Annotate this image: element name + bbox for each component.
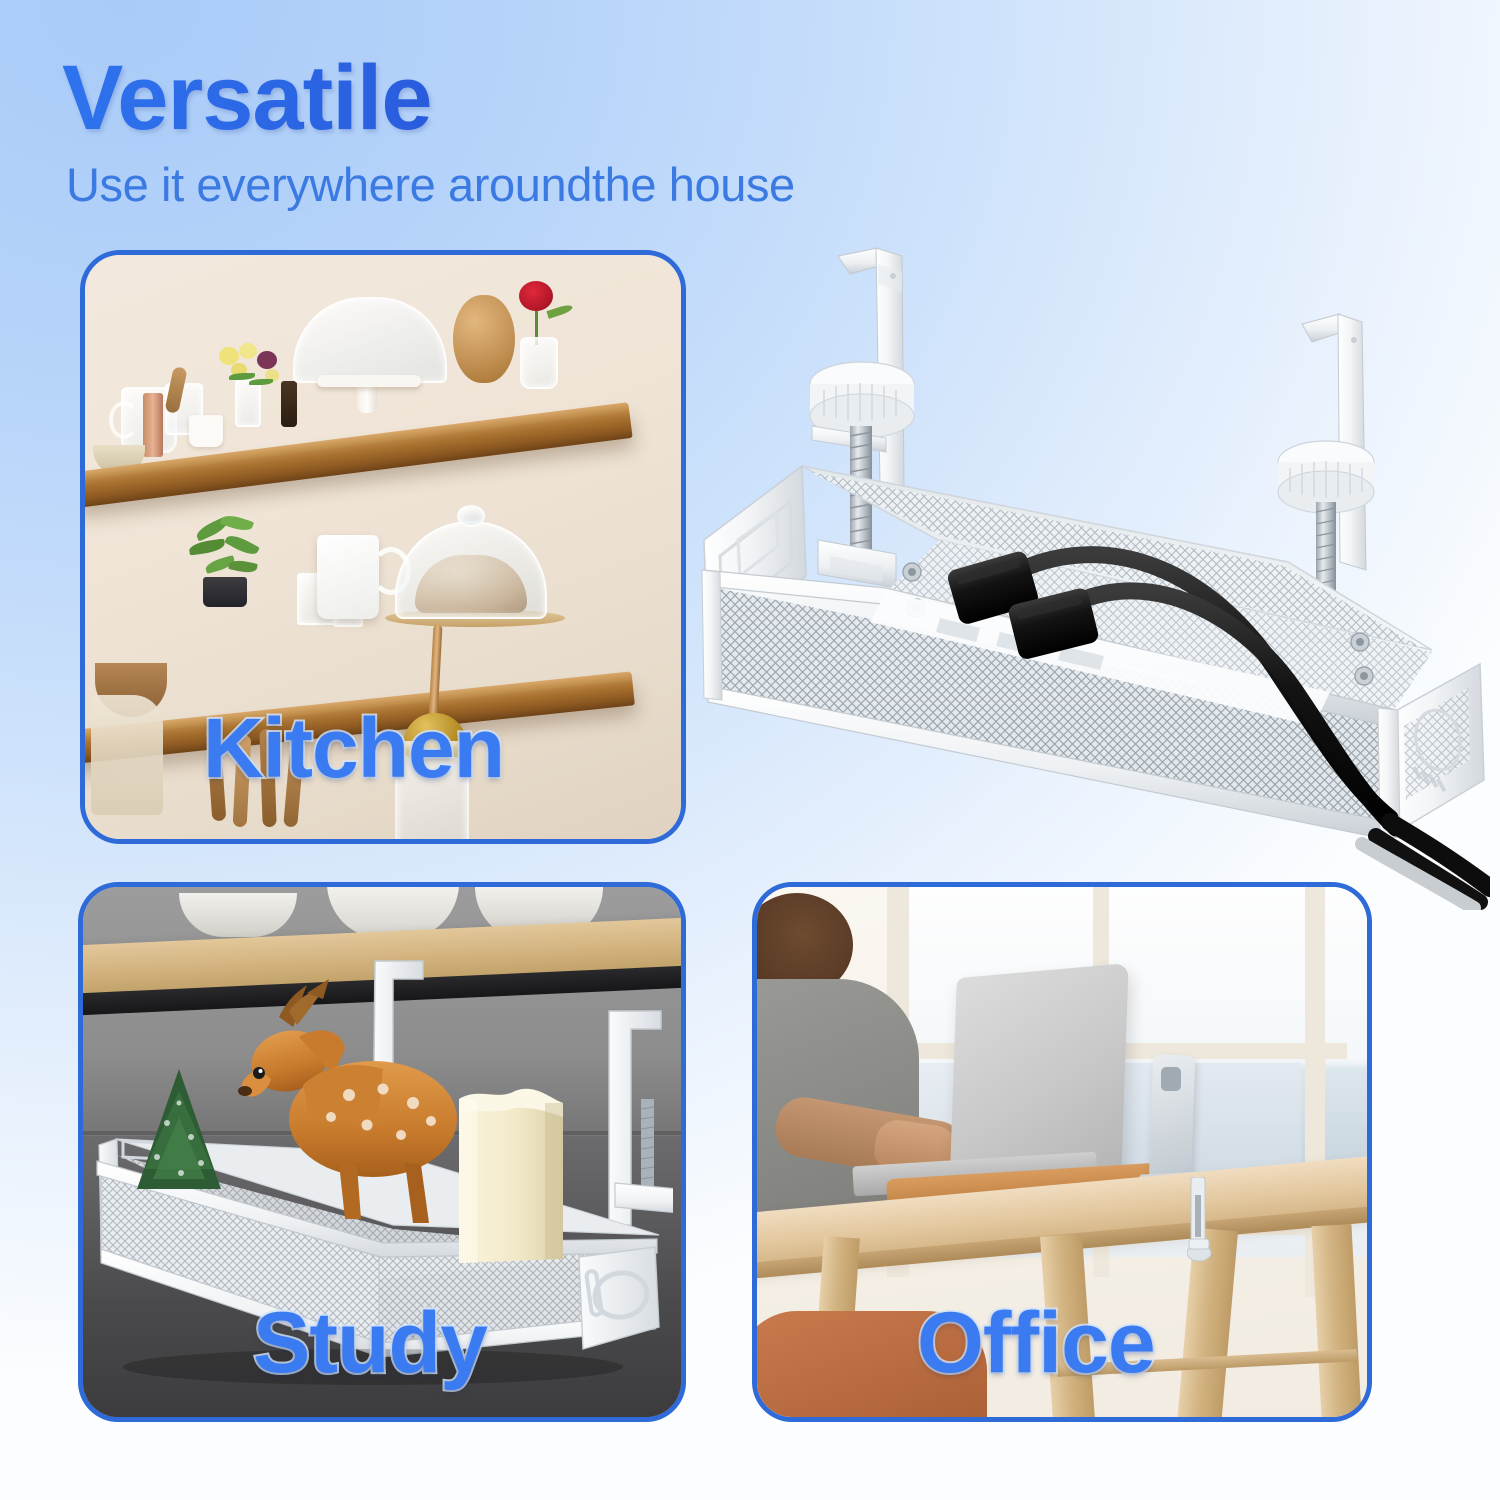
- product-poster: Versatile Use it everywhere aroundthe ho…: [0, 0, 1500, 1500]
- page-subtitle: Use it everywhere aroundthe house: [66, 160, 1062, 209]
- headline-block: Versatile Use it everywhere aroundthe ho…: [62, 52, 1062, 209]
- panel-label-study: Study: [253, 1294, 487, 1393]
- office-tray-clamp: [1187, 1177, 1213, 1277]
- panel-study[interactable]: Study: [78, 882, 686, 1422]
- panel-label-kitchen: Kitchen: [203, 700, 504, 797]
- page-title: Versatile: [62, 52, 1062, 144]
- hero-product-image: [690, 240, 1490, 910]
- panel-label-office: Office: [917, 1294, 1155, 1393]
- panel-kitchen[interactable]: Kitchen: [80, 250, 686, 844]
- panel-office[interactable]: Office: [752, 882, 1372, 1422]
